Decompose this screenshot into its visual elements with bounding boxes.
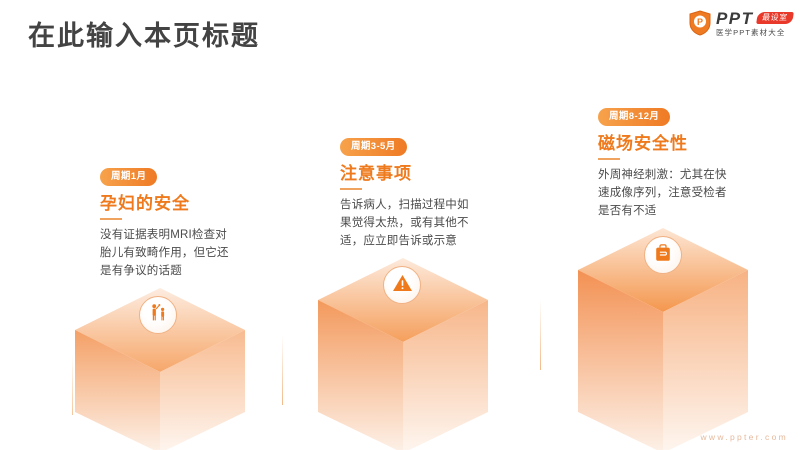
column-2-divider — [340, 188, 362, 190]
column-2-body: 告诉病人，扫描过程中如果觉得太热，或有其他不适，应立即告诉或示意 — [340, 197, 472, 250]
icon-badge-3 — [644, 236, 682, 274]
column-1-badge: 周期1月 — [100, 168, 157, 186]
svg-text:P: P — [697, 17, 703, 27]
brand-logo[interactable]: P PPT 最设室 医学PPT素材大全 — [689, 8, 792, 38]
decor-line — [282, 335, 283, 405]
logo-text-block: PPT 最设室 医学PPT素材大全 — [716, 10, 792, 37]
column-1-body: 没有证据表明MRI检查对胎儿有致畸作用，但它还是有争议的话题 — [100, 227, 232, 280]
decor-line — [540, 300, 541, 370]
icon-badge-2 — [383, 266, 421, 304]
column-1-heading: 孕妇的安全 — [100, 195, 232, 214]
icon-badge-1 — [139, 296, 177, 334]
logo-badge: 最设室 — [756, 12, 793, 24]
warning-triangle-icon — [392, 273, 413, 298]
column-3-body: 外周神经刺激：尤其在快速成像序列，注意受检者是否有不适 — [598, 167, 730, 220]
logo-subtitle: 医学PPT素材大全 — [716, 29, 792, 37]
column-3-heading: 磁场安全性 — [598, 135, 730, 154]
column-1: 周期1月 孕妇的安全 没有证据表明MRI检查对胎儿有致畸作用，但它还是有争议的话… — [100, 166, 232, 281]
slide-canvas: 在此输入本页标题 P PPT 最设室 医学PPT素材大全 — [0, 0, 800, 450]
column-2-heading: 注意事项 — [340, 165, 472, 184]
parent-child-icon — [148, 302, 169, 328]
watermark: www.ppter.com — [700, 432, 788, 442]
briefcase-icon — [653, 243, 673, 268]
column-3: 周期8-12月 磁场安全性 外周神经刺激：尤其在快速成像序列，注意受检者是否有不… — [598, 106, 730, 221]
column-2: 周期3-5月 注意事项 告诉病人，扫描过程中如果觉得太热，或有其他不适，应立即告… — [340, 136, 472, 251]
column-3-badge: 周期8-12月 — [598, 108, 670, 126]
column-1-divider — [100, 218, 122, 220]
page-title: 在此输入本页标题 — [28, 22, 260, 52]
column-3-divider — [598, 158, 620, 160]
column-2-badge: 周期3-5月 — [340, 138, 407, 156]
shield-logo-icon: P — [689, 10, 711, 36]
logo-brand: PPT — [716, 10, 754, 27]
decor-line — [72, 355, 73, 415]
